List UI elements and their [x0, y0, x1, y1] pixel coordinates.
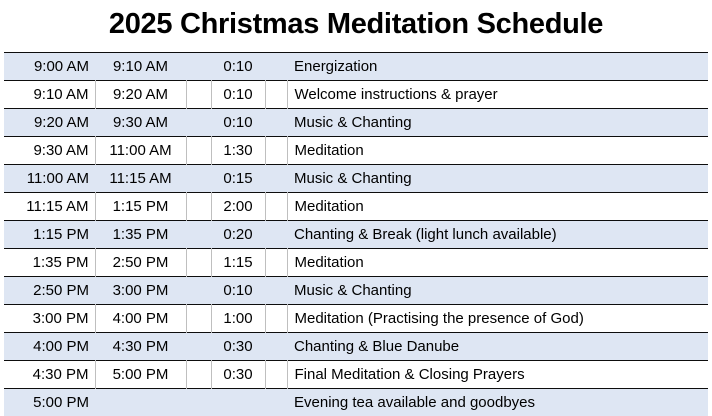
cell-start-time: 9:20 AM	[4, 109, 95, 137]
cell-duration: 0:30	[211, 333, 265, 361]
cell-duration: 1:15	[211, 249, 265, 277]
cell-spacer-left	[186, 305, 211, 333]
schedule-page: 2025 Christmas Meditation Schedule 9:00 …	[0, 0, 712, 403]
cell-spacer-right	[265, 361, 287, 389]
cell-activity: Meditation (Practising the presence of G…	[287, 305, 708, 333]
cell-duration: 0:15	[211, 165, 265, 193]
cell-spacer-right	[265, 165, 287, 193]
cell-activity: Music & Chanting	[287, 277, 708, 305]
cell-spacer-right	[265, 193, 287, 221]
cell-spacer-left	[186, 389, 211, 416]
cell-activity: Energization	[287, 53, 708, 81]
cell-spacer-right	[265, 333, 287, 361]
cell-activity: Welcome instructions & prayer	[287, 81, 708, 109]
cell-end-time: 1:15 PM	[95, 193, 186, 221]
table-row[interactable]: 4:00 PM4:30 PM0:30Chanting & Blue Danube	[4, 333, 708, 361]
cell-spacer-left	[186, 81, 211, 109]
table-row[interactable]: 9:30 AM11:00 AM1:30Meditation	[4, 137, 708, 165]
table-row[interactable]: 2:50 PM3:00 PM0:10Music & Chanting	[4, 277, 708, 305]
cell-spacer-right	[265, 109, 287, 137]
cell-duration: 0:10	[211, 277, 265, 305]
cell-spacer-right	[265, 277, 287, 305]
cell-duration: 1:00	[211, 305, 265, 333]
cell-activity: Final Meditation & Closing Prayers	[287, 361, 708, 389]
table-row[interactable]: 5:00 PMEvening tea available and goodbye…	[4, 389, 708, 416]
cell-start-time: 9:00 AM	[4, 53, 95, 81]
cell-spacer-right	[265, 249, 287, 277]
cell-spacer-right	[265, 389, 287, 416]
page-title: 2025 Christmas Meditation Schedule	[0, 4, 712, 44]
cell-duration: 0:30	[211, 361, 265, 389]
cell-spacer-left	[186, 221, 211, 249]
cell-spacer-left	[186, 165, 211, 193]
cell-activity: Evening tea available and goodbyes	[287, 389, 708, 416]
cell-start-time: 5:00 PM	[4, 389, 95, 416]
cell-end-time: 5:00 PM	[95, 361, 186, 389]
cell-spacer-left	[186, 249, 211, 277]
cell-start-time: 4:00 PM	[4, 333, 95, 361]
cell-duration	[211, 389, 265, 416]
cell-spacer-right	[265, 221, 287, 249]
cell-duration: 0:10	[211, 53, 265, 81]
schedule-table: 9:00 AM9:10 AM0:10Energization9:10 AM9:2…	[4, 52, 708, 416]
cell-end-time: 9:20 AM	[95, 81, 186, 109]
cell-end-time: 9:30 AM	[95, 109, 186, 137]
table-row[interactable]: 4:30 PM5:00 PM0:30Final Meditation & Clo…	[4, 361, 708, 389]
cell-end-time: 4:00 PM	[95, 305, 186, 333]
cell-end-time	[95, 389, 186, 416]
cell-start-time: 11:00 AM	[4, 165, 95, 193]
cell-end-time: 2:50 PM	[95, 249, 186, 277]
table-row[interactable]: 1:15 PM1:35 PM0:20Chanting & Break (ligh…	[4, 221, 708, 249]
table-row[interactable]: 11:15 AM1:15 PM2:00Meditation	[4, 193, 708, 221]
cell-start-time: 1:35 PM	[4, 249, 95, 277]
cell-spacer-left	[186, 137, 211, 165]
cell-spacer-left	[186, 109, 211, 137]
table-row[interactable]: 9:10 AM9:20 AM0:10Welcome instructions &…	[4, 81, 708, 109]
cell-spacer-left	[186, 193, 211, 221]
table-row[interactable]: 1:35 PM2:50 PM1:15Meditation	[4, 249, 708, 277]
cell-spacer-right	[265, 53, 287, 81]
schedule-table-body: 9:00 AM9:10 AM0:10Energization9:10 AM9:2…	[4, 53, 708, 416]
table-row[interactable]: 11:00 AM11:15 AM0:15Music & Chanting	[4, 165, 708, 193]
cell-start-time: 4:30 PM	[4, 361, 95, 389]
cell-activity: Meditation	[287, 249, 708, 277]
cell-start-time: 2:50 PM	[4, 277, 95, 305]
cell-activity: Meditation	[287, 137, 708, 165]
cell-end-time: 11:15 AM	[95, 165, 186, 193]
cell-spacer-right	[265, 137, 287, 165]
cell-end-time: 4:30 PM	[95, 333, 186, 361]
cell-duration: 0:20	[211, 221, 265, 249]
cell-start-time: 9:10 AM	[4, 81, 95, 109]
table-row[interactable]: 3:00 PM4:00 PM1:00Meditation (Practising…	[4, 305, 708, 333]
cell-duration: 1:30	[211, 137, 265, 165]
cell-end-time: 3:00 PM	[95, 277, 186, 305]
cell-start-time: 1:15 PM	[4, 221, 95, 249]
cell-spacer-right	[265, 81, 287, 109]
cell-duration: 2:00	[211, 193, 265, 221]
cell-activity: Chanting & Blue Danube	[287, 333, 708, 361]
cell-activity: Meditation	[287, 193, 708, 221]
cell-start-time: 11:15 AM	[4, 193, 95, 221]
cell-activity: Music & Chanting	[287, 109, 708, 137]
cell-end-time: 1:35 PM	[95, 221, 186, 249]
cell-duration: 0:10	[211, 109, 265, 137]
cell-spacer-left	[186, 277, 211, 305]
cell-spacer-left	[186, 361, 211, 389]
cell-start-time: 9:30 AM	[4, 137, 95, 165]
cell-activity: Chanting & Break (light lunch available)	[287, 221, 708, 249]
cell-end-time: 9:10 AM	[95, 53, 186, 81]
cell-spacer-left	[186, 53, 211, 81]
cell-spacer-left	[186, 333, 211, 361]
cell-start-time: 3:00 PM	[4, 305, 95, 333]
cell-activity: Music & Chanting	[287, 165, 708, 193]
cell-duration: 0:10	[211, 81, 265, 109]
cell-spacer-right	[265, 305, 287, 333]
table-row[interactable]: 9:20 AM9:30 AM0:10Music & Chanting	[4, 109, 708, 137]
table-row[interactable]: 9:00 AM9:10 AM0:10Energization	[4, 53, 708, 81]
cell-end-time: 11:00 AM	[95, 137, 186, 165]
